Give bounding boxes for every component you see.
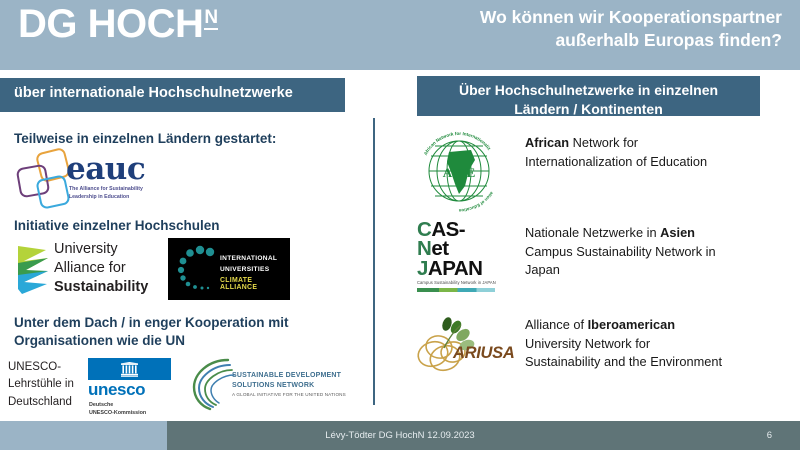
eauc-wordmark: eauc [66, 154, 145, 185]
section-banner-right-line1: Über Hochschulnetzwerke in einzelnen [417, 81, 760, 100]
sdsn-logo: SUSTAINABLE DEVELOPMENT SOLUTIONS NETWOR… [188, 354, 348, 416]
casnet-tagline: Campus Sustainability Network in JAPAN [417, 280, 501, 286]
page-title: Wo können wir Kooperationspartner außerh… [342, 6, 782, 52]
sdsn-line3: A GLOBAL INITIATIVE FOR THE UNITED NATIO… [232, 392, 346, 397]
unesco-chairs-label: UNESCO- Lehrstühle in Deutschland [8, 359, 88, 411]
casnet-color-stripe [417, 288, 495, 292]
iuca-line3: CLIMATE ALLIANCE [220, 277, 290, 291]
asia-description-bold: Asien [660, 225, 695, 240]
left-heading-3-line1: Unter dem Dach / in enger Kooperation mi… [14, 314, 354, 332]
left-heading-1: Teilweise in einzelnen Ländern gestartet… [14, 130, 276, 148]
eauc-tagline-line1: The Alliance for Sustainability [69, 186, 164, 194]
section-banner-right-line2: Ländern / Kontinenten [417, 100, 760, 119]
slide: DG HOCHN Wo können wir Kooperationspartn… [0, 0, 800, 450]
african-description-bold: African [525, 135, 569, 150]
dot-circle-icon [174, 244, 224, 294]
footer-text: Lévy-Tödter DG HochN 12.09.2023 [0, 421, 800, 450]
asia-description-line3: Japan [525, 261, 793, 280]
casnet-l3a: J [417, 257, 428, 280]
page-title-line2: außerhalb Europas finden? [342, 29, 782, 52]
unesco-temple-icon [121, 362, 138, 377]
slide-header: DG HOCHN Wo können wir Kooperationspartn… [0, 0, 800, 70]
eauc-tagline-line2: Leadership in Education [69, 194, 164, 202]
ariusa-wordmark: ARIUSA [453, 344, 514, 363]
uas-wordmark: University Alliance for Sustainability [54, 240, 148, 297]
left-heading-3-line2: Organisationen wie die UN [14, 332, 354, 350]
unesco-label-line2: Lehrstühle in [8, 376, 88, 393]
right-column: ANIE African Network for Internationaliz… [395, 120, 800, 410]
uas-line1: University [54, 240, 148, 259]
left-heading-3: Unter dem Dach / in enger Kooperation mi… [14, 314, 354, 350]
casnet-line3: JAPAN [417, 259, 501, 278]
column-divider [373, 118, 375, 405]
slide-footer: Lévy-Tödter DG HochN 12.09.2023 6 [0, 421, 800, 450]
international-universities-climate-alliance-logo: INTERNATIONAL UNIVERSITIES CLIMATE ALLIA… [168, 238, 290, 300]
page-title-line1: Wo können wir Kooperationspartner [342, 6, 782, 29]
iuca-line1: INTERNATIONAL [220, 255, 277, 262]
left-column: Teilweise in einzelnen Ländern gestartet… [0, 118, 370, 408]
brand-main-text: DG HOCH [18, 2, 203, 46]
slide-page-number: 6 [767, 421, 772, 450]
iberoamerican-description-pre: Alliance of [525, 317, 588, 332]
asia-description: Nationale Netzwerke in Asien Campus Sust… [525, 224, 793, 280]
eauc-tagline: The Alliance for Sustainability Leadersh… [69, 186, 164, 202]
sdsn-line2: SOLUTIONS NETWORK [232, 382, 314, 389]
unesco-subtitle: Deutsche UNESCO-Kommission [89, 401, 146, 417]
iberoamerican-description-line2: University Network for [525, 335, 793, 354]
uas-line2: Alliance for [54, 259, 148, 278]
african-description-line1: African Network for [525, 134, 793, 153]
iberoamerican-description: Alliance of Iberoamerican University Net… [525, 316, 793, 372]
african-description: African Network for Internationalization… [525, 134, 793, 171]
zigzag-icon [16, 244, 50, 296]
unesco-label-line3: Deutschland [8, 394, 88, 411]
unesco-logo: unesco Deutsche UNESCO-Kommission [88, 358, 180, 414]
svg-text:ation of Education: ation of Education [458, 191, 494, 212]
iberoamerican-description-bold: Iberoamerican [588, 317, 676, 332]
svg-text:ANIE: ANIE [443, 165, 476, 180]
casnet-japan-logo: CAS- Net JAPAN Campus Sustainability Net… [417, 220, 501, 296]
unesco-sub-line2: UNESCO-Kommission [89, 409, 146, 417]
asia-description-pre: Nationale Netzwerke in [525, 225, 660, 240]
iberoamerican-description-line1: Alliance of Iberoamerican [525, 316, 793, 335]
anie-logo: ANIE African Network for Internationaliz… [413, 130, 505, 212]
left-heading-2: Initiative einzelner Hochschulen [14, 217, 220, 235]
asia-description-line1: Nationale Netzwerke in Asien [525, 224, 793, 243]
eauc-logo: eauc The Alliance for Sustainability Lea… [16, 150, 156, 206]
african-description-line2: Internationalization of Education [525, 153, 793, 172]
unesco-label-line1: UNESCO- [8, 359, 88, 376]
university-alliance-sustainability-logo: University Alliance for Sustainability [16, 240, 166, 300]
asia-description-line2: Campus Sustainability Network in [525, 243, 793, 262]
ariusa-logo: ARIUSA [411, 314, 511, 380]
iuca-line2: UNIVERSITIES [220, 266, 269, 273]
iberoamerican-description-line3: Sustainability and the Environment [525, 353, 793, 372]
casnet-l3b: APAN [428, 257, 483, 280]
section-banner-left: über internationale Hochschulnetzwerke [0, 78, 345, 112]
section-banner-right: Über Hochschulnetzwerke in einzelnen Län… [417, 76, 760, 116]
uas-line3: Sustainability [54, 278, 148, 297]
unesco-sub-line1: Deutsche [89, 401, 146, 409]
unesco-wordmark: unesco [88, 381, 145, 398]
dg-hochn-logo: DG HOCHN [18, 4, 218, 44]
african-description-rest: Network for [569, 135, 638, 150]
sdsn-line1: SUSTAINABLE DEVELOPMENT [232, 372, 341, 379]
brand-superscript-n: N [204, 8, 217, 30]
